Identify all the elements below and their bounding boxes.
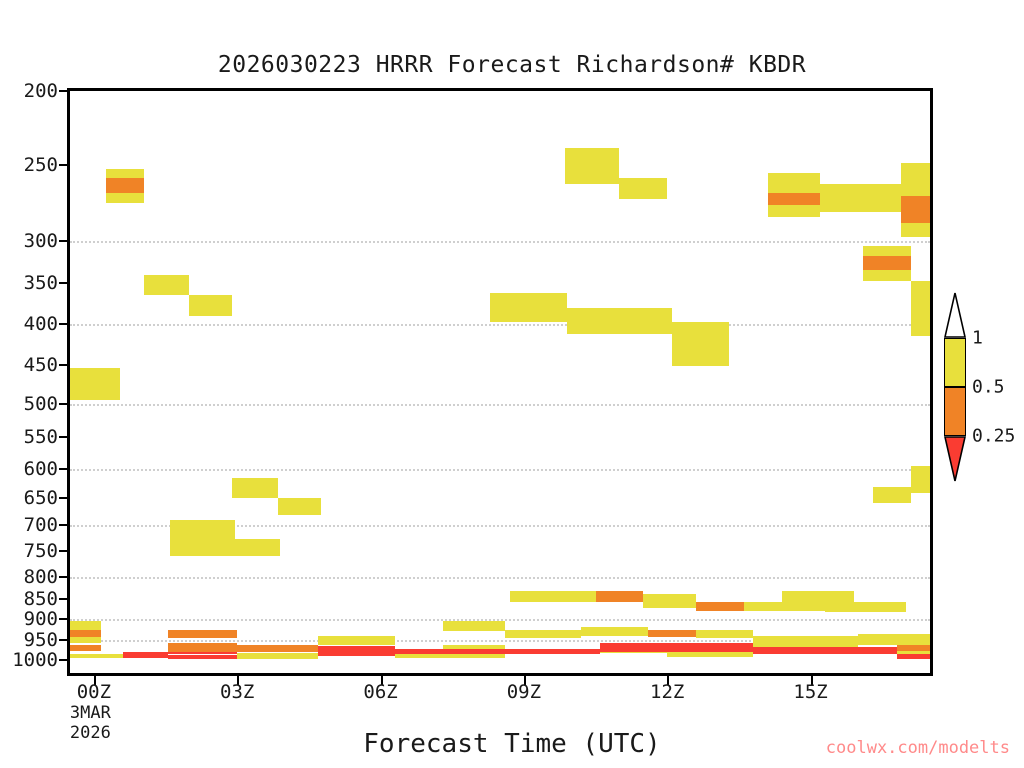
- y-tick-label-700: 700: [24, 514, 58, 536]
- gridline-300: [70, 241, 930, 243]
- data-cell: [863, 256, 911, 270]
- data-cell: [168, 643, 237, 652]
- data-cell: [505, 630, 581, 638]
- data-cell: [168, 652, 237, 654]
- data-cell: [643, 594, 696, 608]
- y-tick-label-800: 800: [24, 566, 58, 588]
- y-tick-label-600: 600: [24, 458, 58, 480]
- data-cell: [581, 627, 648, 636]
- data-cell: [596, 591, 644, 602]
- data-cell: [318, 646, 394, 656]
- x-tick-label-12Z: 12Z: [650, 681, 684, 703]
- y-tick-label-850: 850: [24, 588, 58, 610]
- data-cell: [70, 368, 120, 399]
- gridline-800: [70, 577, 930, 579]
- y-tick-mark-450: [59, 364, 68, 366]
- data-cell: [672, 322, 729, 366]
- data-cell: [235, 539, 280, 556]
- data-cell: [70, 654, 123, 657]
- y-axis: 2002503003504004505005506006507007508008…: [0, 0, 58, 768]
- colorbar-label-0.5: 0.5: [972, 377, 1005, 398]
- chart-canvas: 2026030223 HRRR Forecast Richardson# KBD…: [0, 0, 1024, 768]
- y-tick-mark-250: [59, 164, 68, 166]
- data-cell: [278, 498, 321, 515]
- data-cell: [768, 173, 821, 193]
- x-tick-label-06Z: 06Z: [363, 681, 397, 703]
- data-cell: [858, 634, 930, 645]
- y-tick-mark-900: [59, 618, 68, 620]
- data-cell: [696, 630, 753, 638]
- data-cell: [106, 193, 144, 204]
- y-tick-mark-350: [59, 282, 68, 284]
- data-cell: [768, 193, 821, 205]
- y-tick-label-900: 900: [24, 608, 58, 630]
- colorbar-extend-max: [944, 292, 966, 338]
- y-tick-label-250: 250: [24, 154, 58, 176]
- data-cell: [911, 281, 930, 336]
- data-cell: [70, 630, 101, 637]
- y-tick-mark-300: [59, 240, 68, 242]
- data-cell: [897, 654, 930, 658]
- data-cell: [873, 487, 911, 503]
- x-tick-label-03Z: 03Z: [220, 681, 254, 703]
- y-tick-label-750: 750: [24, 540, 58, 562]
- y-tick-label-950: 950: [24, 629, 58, 651]
- y-tick-mark-750: [59, 550, 68, 552]
- data-cell: [189, 295, 232, 315]
- colorbar-extend-min: [944, 436, 966, 482]
- data-cell: [490, 293, 566, 322]
- gridline-600: [70, 469, 930, 471]
- data-cell: [168, 630, 237, 638]
- gridline-400: [70, 324, 930, 326]
- data-cell: [619, 178, 667, 199]
- data-cell: [237, 645, 318, 652]
- y-tick-mark-700: [59, 524, 68, 526]
- data-cell: [70, 645, 101, 651]
- y-tick-mark-800: [59, 576, 68, 578]
- data-cell: [106, 169, 144, 178]
- data-cell: [510, 591, 596, 602]
- data-cell: [232, 478, 277, 498]
- gridline-500: [70, 404, 930, 406]
- colorbar-band-1-0.5: [944, 338, 966, 387]
- data-cell: [144, 275, 189, 296]
- y-tick-label-500: 500: [24, 393, 58, 415]
- y-tick-mark-200: [59, 90, 68, 92]
- data-cell: [106, 178, 144, 193]
- data-cell: [123, 652, 168, 658]
- y-tick-mark-950: [59, 639, 68, 641]
- data-cell: [443, 621, 505, 631]
- y-tick-label-650: 650: [24, 487, 58, 509]
- data-cell: [318, 636, 394, 645]
- data-cell: [667, 652, 753, 657]
- x-axis-date-line: 3MAR: [70, 703, 111, 723]
- page-title: 2026030223 HRRR Forecast Richardson# KBD…: [0, 52, 1024, 78]
- watermark: coolwx.com/modelts: [826, 738, 1010, 758]
- data-cell: [170, 520, 235, 556]
- colorbar: 10.50.25: [938, 292, 978, 482]
- y-tick-mark-600: [59, 468, 68, 470]
- colorbar-band-0.5-0.25: [944, 387, 966, 436]
- data-cell: [901, 163, 930, 196]
- x-tick-label-15Z: 15Z: [793, 681, 827, 703]
- y-tick-mark-850: [59, 598, 68, 600]
- y-tick-label-300: 300: [24, 230, 58, 252]
- data-cell: [567, 308, 672, 334]
- colorbar-label-1: 1: [972, 328, 983, 349]
- y-tick-label-350: 350: [24, 272, 58, 294]
- data-cell: [863, 270, 911, 281]
- data-cell: [168, 655, 237, 658]
- plot-area: [67, 88, 933, 676]
- colorbar-label-0.25: 0.25: [972, 426, 1015, 447]
- data-cell: [863, 246, 911, 256]
- data-cell: [753, 647, 896, 654]
- data-cell: [768, 205, 821, 217]
- data-cell: [395, 649, 600, 654]
- data-cell: [901, 223, 930, 237]
- data-cell: [70, 621, 101, 630]
- y-tick-mark-550: [59, 436, 68, 438]
- x-tick-label-09Z: 09Z: [507, 681, 541, 703]
- data-cell: [600, 643, 753, 652]
- y-tick-mark-400: [59, 323, 68, 325]
- data-cell: [565, 148, 620, 184]
- data-cell: [901, 196, 930, 223]
- data-cell: [648, 630, 696, 637]
- data-cell: [753, 636, 858, 647]
- plot-inner: [70, 91, 930, 673]
- data-cell: [237, 653, 318, 659]
- data-cell: [825, 602, 906, 612]
- y-tick-mark-500: [59, 403, 68, 405]
- x-tick-label-00Z: 00Z: [77, 681, 111, 703]
- y-tick-mark-650: [59, 497, 68, 499]
- data-cell: [911, 466, 930, 492]
- y-tick-label-550: 550: [24, 426, 58, 448]
- data-cell: [696, 602, 744, 611]
- y-tick-label-200: 200: [24, 80, 58, 102]
- y-tick-label-450: 450: [24, 354, 58, 376]
- y-tick-label-1000: 1000: [12, 649, 58, 671]
- y-tick-label-400: 400: [24, 313, 58, 335]
- data-cell: [820, 184, 901, 213]
- y-tick-mark-1000: [59, 659, 68, 661]
- data-cell: [70, 637, 101, 644]
